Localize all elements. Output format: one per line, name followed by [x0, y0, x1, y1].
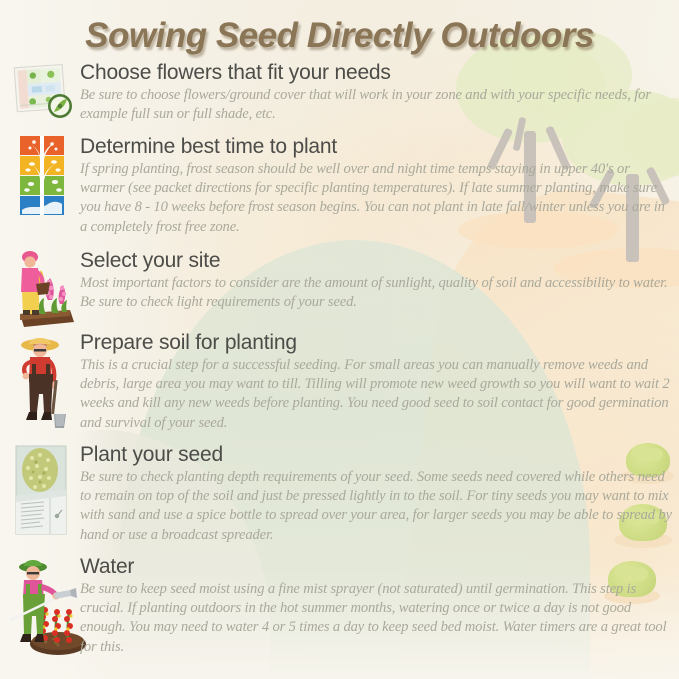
step-text: Prepare soil for planting This is a cruc…: [80, 330, 675, 433]
page-title: Sowing Seed Directly Outdoors: [0, 16, 679, 56]
step-heading: Plant your seed: [80, 442, 675, 467]
step-heading: Water: [80, 554, 675, 579]
step-text: Choose flowers that fit your needs Be su…: [80, 60, 675, 124]
four-seasons-tree-icon: [10, 134, 74, 220]
gardener-with-shovel-icon: [10, 330, 74, 434]
step-heading: Prepare soil for planting: [80, 330, 675, 355]
infographic-poster: Sowing Seed Directly Outdoors: [0, 0, 679, 679]
step-text: Water Be sure to keep seed moist using a…: [80, 554, 675, 657]
step-heading: Select your site: [80, 248, 675, 273]
person-watering-hose-icon: [10, 554, 88, 658]
step-heading: Choose flowers that fit your needs: [80, 60, 675, 85]
seed-packet-icon: [10, 442, 72, 538]
person-planting-flowerbed-icon: [10, 248, 78, 332]
step-body: Be sure to check planting depth requirem…: [80, 468, 675, 545]
step-body: Be sure to choose flowers/ground cover t…: [80, 86, 675, 124]
step-body: This is a crucial step for a successful …: [80, 356, 675, 433]
step-text: Determine best time to plant If spring p…: [80, 134, 675, 237]
step-text: Select your site Most important factors …: [80, 248, 675, 312]
step-body: Be sure to keep seed moist using a fine …: [80, 580, 675, 657]
step-body: Most important factors to consider are t…: [80, 274, 675, 312]
step-text: Plant your seed Be sure to check plantin…: [80, 442, 675, 545]
step-heading: Determine best time to plant: [80, 134, 675, 159]
steps-list: Choose flowers that fit your needs Be su…: [0, 0, 679, 679]
garden-plan-map-icon: [10, 60, 74, 124]
step-body: If spring planting, frost season should …: [80, 160, 675, 237]
